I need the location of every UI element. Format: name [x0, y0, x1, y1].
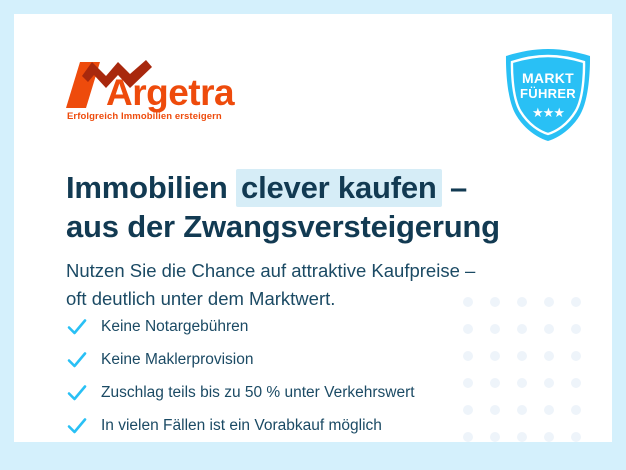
check-icon: [66, 415, 88, 437]
decorative-dot: [571, 405, 581, 415]
decorative-dot: [544, 324, 554, 334]
decorative-dot: [544, 378, 554, 388]
subheadline-line-1: Nutzen Sie die Chance auf attraktive Kau…: [66, 260, 475, 281]
decorative-dot: [571, 378, 581, 388]
headline-line-1-post: –: [442, 170, 467, 205]
headline-line-1-pre: Immobilien: [66, 170, 236, 205]
check-icon: [66, 316, 88, 338]
check-icon: [66, 382, 88, 404]
headline-line-2: aus der Zwangsversteigerung: [66, 209, 500, 244]
list-item: In vielen Fällen ist ein Vorabkauf mögli…: [66, 411, 536, 440]
decorative-dot: [571, 432, 581, 442]
list-item-label: Keine Notargebühren: [101, 318, 248, 336]
ad-card: Argetra Erfolgreich Immobilien ersteiger…: [14, 14, 612, 442]
list-item-label: In vielen Fällen ist ein Vorabkauf mögli…: [101, 417, 382, 435]
market-leader-badge: MARKT FÜHRER ★★★: [501, 47, 595, 143]
check-icon: [66, 349, 88, 371]
argetra-logo[interactable]: Argetra Erfolgreich Immobilien ersteiger…: [66, 58, 296, 128]
page-title: Immobilien clever kaufen – aus der Zwang…: [66, 168, 586, 246]
headline-highlight: clever kaufen: [236, 169, 442, 207]
list-item: Zuschlag teils bis zu 50 % unter Verkehr…: [66, 378, 536, 407]
logo-wordmark: Argetra: [106, 74, 234, 111]
decorative-dot: [571, 324, 581, 334]
list-item-label: Zuschlag teils bis zu 50 % unter Verkehr…: [101, 384, 415, 402]
list-item: Keine Maklerprovision: [66, 345, 536, 374]
logo-tagline: Erfolgreich Immobilien ersteigern: [67, 111, 222, 122]
decorative-dot: [571, 351, 581, 361]
feature-list: Keine Notargebühren Keine Maklerprovisio…: [66, 312, 536, 442]
subheadline-line-2: oft deutlich unter dem Marktwert.: [66, 288, 335, 309]
list-item-label: Keine Maklerprovision: [101, 351, 254, 369]
decorative-dot: [544, 351, 554, 361]
decorative-dot: [544, 432, 554, 442]
shield-icon: [501, 47, 595, 143]
subheadline: Nutzen Sie die Chance auf attraktive Kau…: [66, 257, 586, 313]
decorative-dot: [544, 405, 554, 415]
list-item: Keine Notargebühren: [66, 312, 536, 341]
